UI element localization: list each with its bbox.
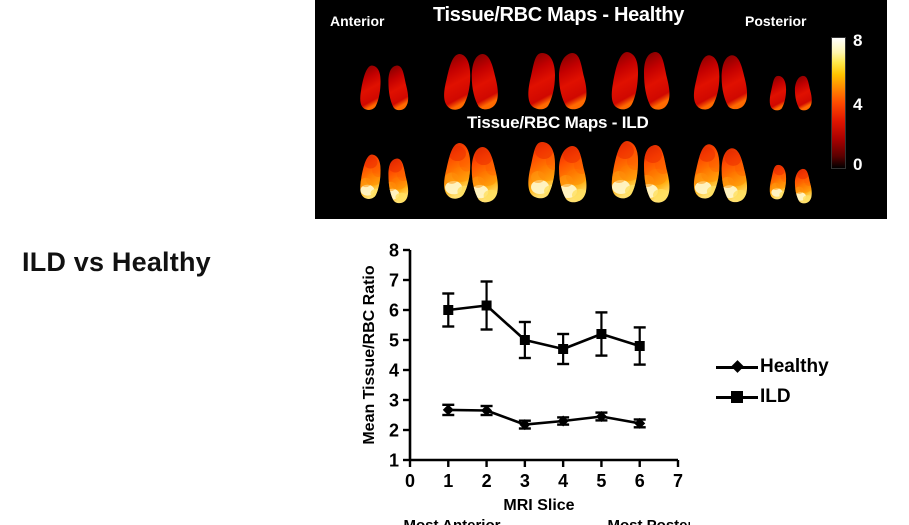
chart-legend: Healthy ILD	[716, 352, 829, 412]
lung-slice-3-right	[553, 143, 593, 205]
data-point-marker	[520, 335, 530, 345]
lung-slice-3-right	[553, 50, 593, 112]
lung-slice-5-right	[717, 54, 754, 112]
series-ild	[442, 282, 645, 365]
data-point-marker	[635, 341, 645, 351]
lung-slice-1-left	[355, 64, 386, 112]
data-point-marker	[482, 301, 492, 311]
lung-slice-2-right	[467, 53, 505, 112]
lung-slice-1-right	[383, 157, 414, 205]
posterior-label: Posterior	[745, 13, 806, 29]
y-tick-label: 2	[389, 421, 399, 441]
lung-slice-5-right	[717, 147, 754, 205]
lung-slice-1-left	[355, 153, 386, 201]
square-marker-icon	[716, 387, 758, 407]
colorbar-tick-low: 0	[853, 155, 862, 175]
y-axis-title: Mean Tissue/RBC Ratio	[361, 265, 378, 445]
y-tick-label: 1	[389, 451, 399, 471]
healthy-maps-title: Tissue/RBC Maps - Healthy	[433, 4, 684, 27]
legend-label-healthy: Healthy	[760, 356, 829, 378]
legend-label-ild: ILD	[760, 386, 791, 408]
data-point-marker	[558, 344, 568, 354]
series-line	[448, 306, 639, 350]
data-point-marker	[596, 329, 606, 339]
colorbar-tick-mid: 4	[853, 95, 862, 115]
lung-slice-4-right	[637, 50, 677, 112]
colorbar-gradient	[831, 37, 846, 169]
lung-slice-6-right	[791, 167, 816, 205]
y-tick-label: 6	[389, 301, 399, 321]
chart-canvas: 1234567801234567Mean Tissue/RBC RatioMRI…	[360, 238, 690, 525]
lung-slice-6-left	[765, 163, 790, 201]
healthy-slice-row	[315, 52, 825, 112]
figure-caption: ILD vs Healthy	[22, 247, 211, 278]
anterior-label: Anterior	[330, 13, 384, 29]
ild-maps-title: Tissue/RBC Maps - ILD	[467, 113, 649, 133]
legend-item-ild[interactable]: ILD	[716, 382, 829, 412]
x-tick-label: 0	[405, 471, 415, 491]
series-line	[448, 410, 639, 425]
lung-slice-4-right	[637, 143, 677, 205]
colorbar-tick-high: 8	[853, 31, 862, 51]
x-axis-title: MRI Slice	[503, 497, 574, 514]
x-tick-label: 4	[558, 471, 568, 491]
x-tick-label: 2	[482, 471, 492, 491]
lung-slice-1-right	[383, 64, 414, 112]
y-tick-label: 7	[389, 271, 399, 291]
y-tick-label: 8	[389, 241, 399, 261]
legend-item-healthy[interactable]: Healthy	[716, 352, 829, 382]
y-tick-label: 5	[389, 331, 399, 351]
diamond-marker-icon	[716, 357, 758, 377]
data-point-marker	[443, 404, 454, 415]
y-tick-label: 3	[389, 391, 399, 411]
y-tick-label: 4	[389, 361, 399, 381]
lung-slice-6-left	[765, 74, 790, 112]
series-healthy	[442, 404, 645, 430]
colorbar: 8 4 0	[831, 33, 883, 173]
mri-image-panel: Anterior Tissue/RBC Maps - Healthy Poste…	[315, 0, 887, 219]
lung-slice-2-right	[467, 146, 505, 205]
x-tick-label: 1	[443, 471, 453, 491]
x-tick-label: 7	[673, 471, 683, 491]
ild-slice-row	[315, 145, 825, 205]
lung-slice-6-right	[791, 74, 816, 112]
line-chart: 1234567801234567Mean Tissue/RBC RatioMRI…	[360, 238, 690, 525]
annotation-most-anterior: Most Anterior	[404, 517, 501, 525]
x-tick-label: 3	[520, 471, 530, 491]
annotation-most-posterior: Most Posterior	[607, 517, 690, 525]
data-point-marker	[443, 305, 453, 315]
x-tick-label: 5	[596, 471, 606, 491]
x-tick-label: 6	[635, 471, 645, 491]
